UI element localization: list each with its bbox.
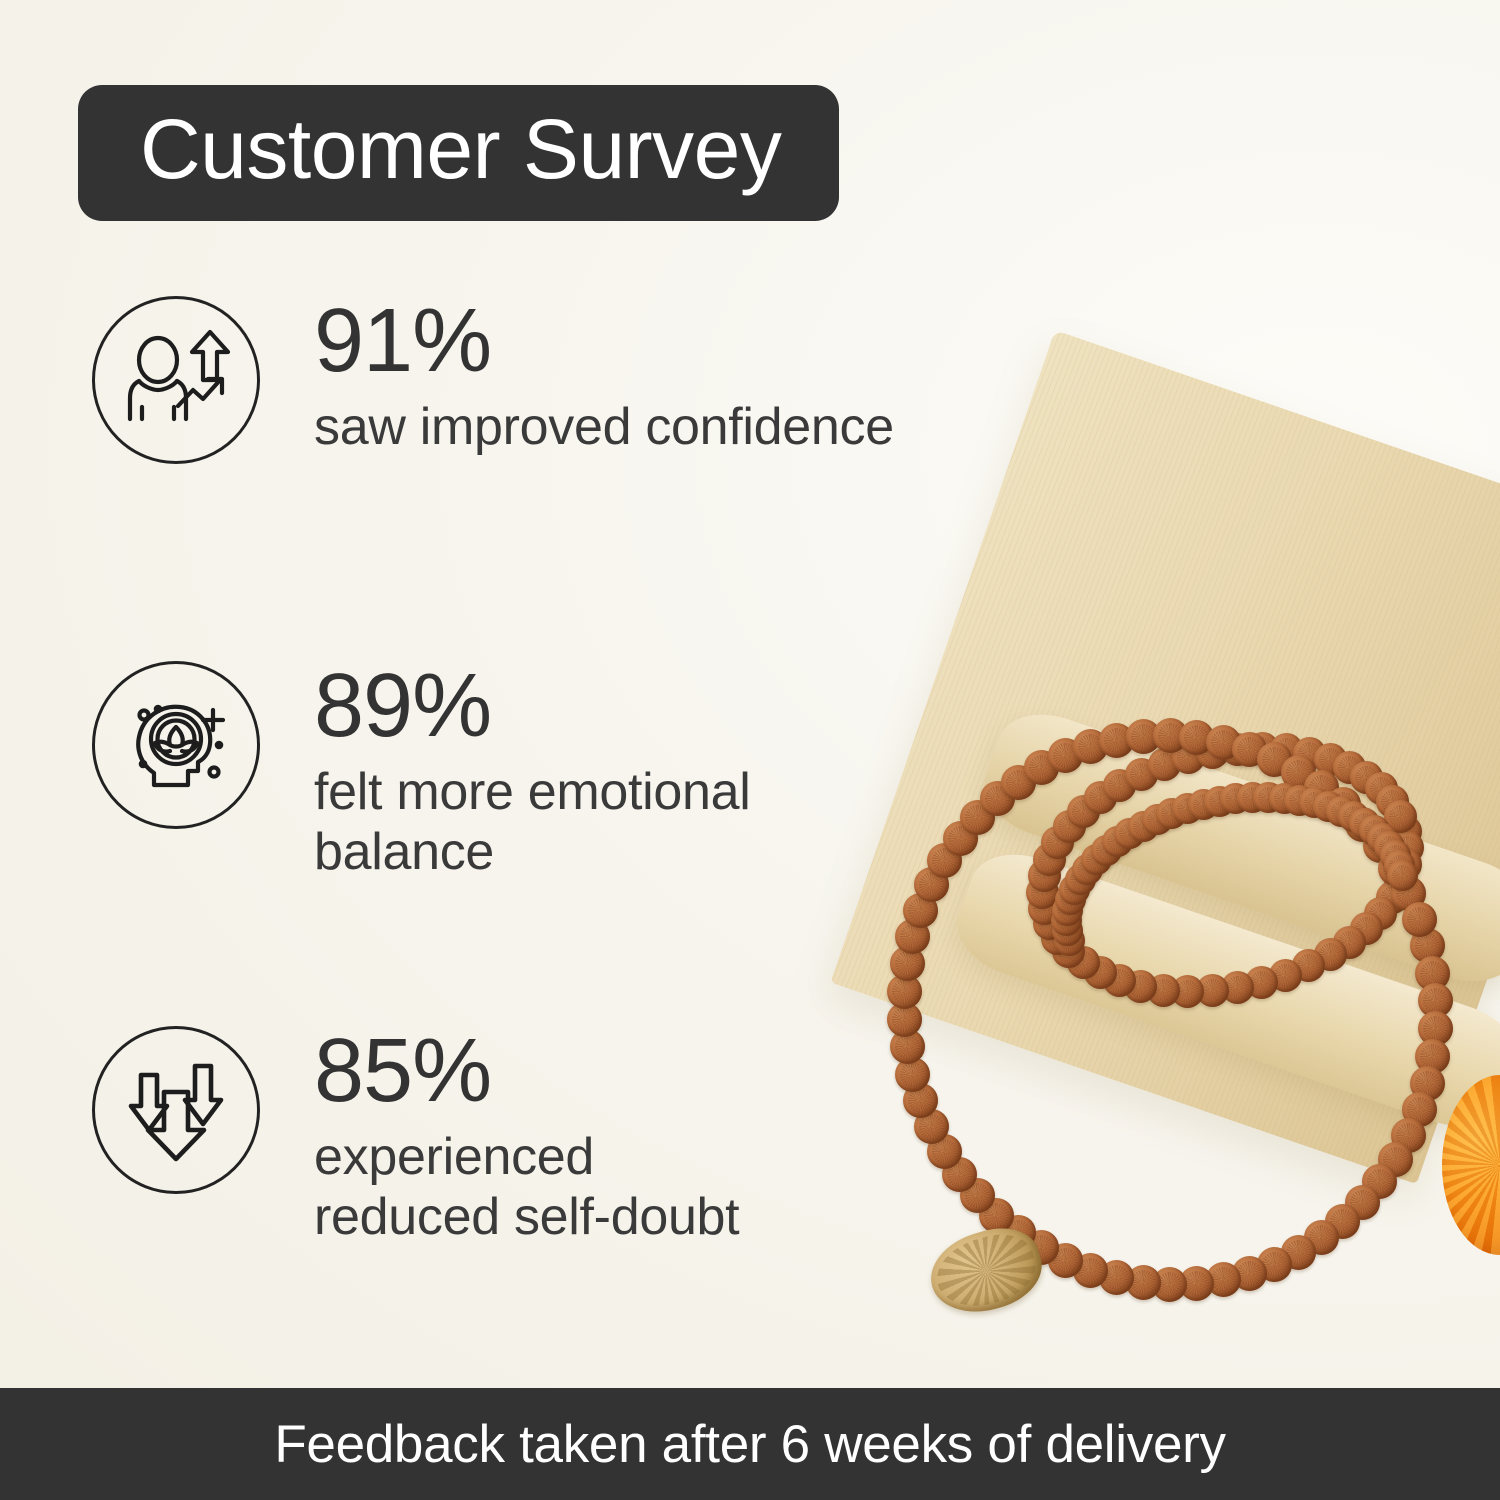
stat-label: saw improved confidence	[314, 398, 894, 457]
infographic-content: Customer Survey 91% saw improved	[0, 0, 1500, 1500]
stat-value: 89%	[314, 663, 914, 749]
stat-item-emotional-balance: 89% felt more emotional balance	[92, 661, 914, 882]
stat-item-confidence: 91% saw improved confidence	[92, 296, 894, 464]
title-banner: Customer Survey	[78, 85, 839, 221]
person-growth-arrow-icon	[92, 296, 260, 464]
stat-text-confidence: 91% saw improved confidence	[314, 296, 894, 458]
stat-text-emotional-balance: 89% felt more emotional balance	[314, 661, 914, 882]
stat-value: 85%	[314, 1028, 744, 1114]
three-down-arrows-icon	[92, 1026, 260, 1194]
mind-lotus-head-icon	[92, 661, 260, 829]
stat-value: 91%	[314, 298, 894, 384]
stat-item-self-doubt: 85% experienced reduced self-doubt	[92, 1026, 744, 1247]
footer-bar: Feedback taken after 6 weeks of delivery	[0, 1388, 1500, 1500]
page-title: Customer Survey	[140, 107, 781, 191]
stat-label: experienced reduced self-doubt	[314, 1128, 744, 1247]
footer-note: Feedback taken after 6 weeks of delivery	[274, 1414, 1225, 1475]
stat-label: felt more emotional balance	[314, 763, 914, 882]
stat-text-self-doubt: 85% experienced reduced self-doubt	[314, 1026, 744, 1247]
